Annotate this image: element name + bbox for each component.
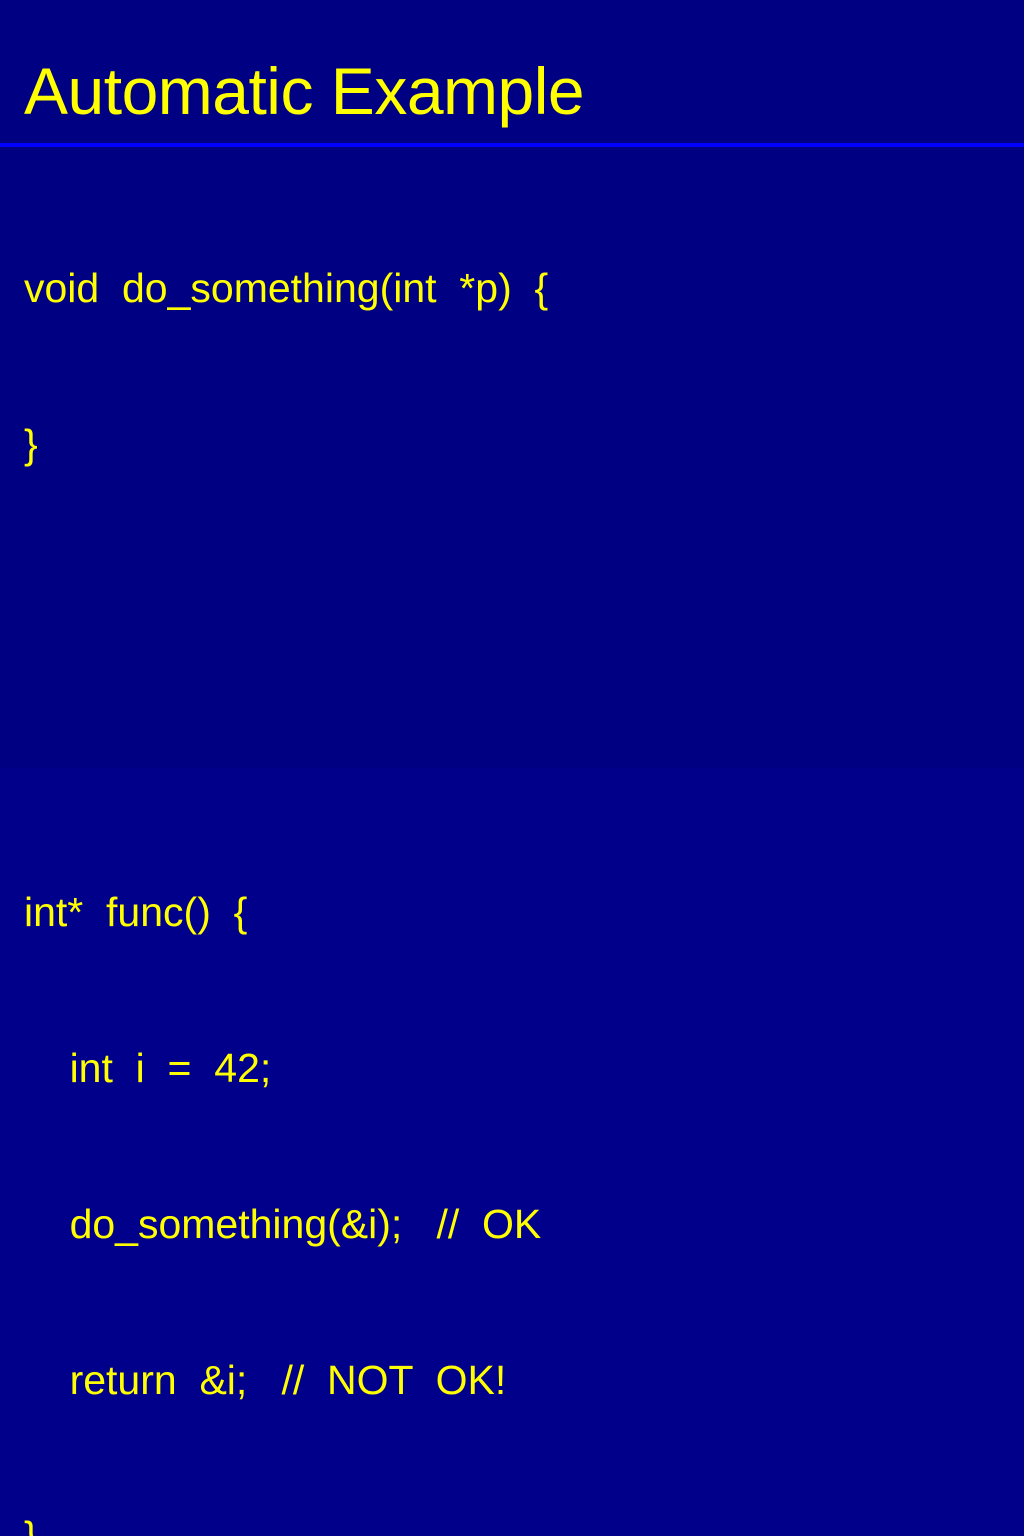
code-line: return &i; // NOT OK! xyxy=(24,1354,1014,1406)
title-divider-rule xyxy=(0,143,1024,147)
code-line-blank xyxy=(24,574,1014,626)
code-block: void do_something(int *p) { } int* func(… xyxy=(24,158,1014,1536)
slide-canvas: Automatic Example void do_something(int … xyxy=(0,0,1024,768)
code-line: } xyxy=(24,418,1014,470)
code-line: int* func() { xyxy=(24,886,1014,938)
page-title: Automatic Example xyxy=(24,54,584,128)
code-line: do_something(&i); // OK xyxy=(24,1198,1014,1250)
code-line: void do_something(int *p) { xyxy=(24,262,1014,314)
code-line-blank xyxy=(24,730,1014,782)
code-line: int i = 42; xyxy=(24,1042,1014,1094)
code-line: } xyxy=(24,1510,1014,1536)
